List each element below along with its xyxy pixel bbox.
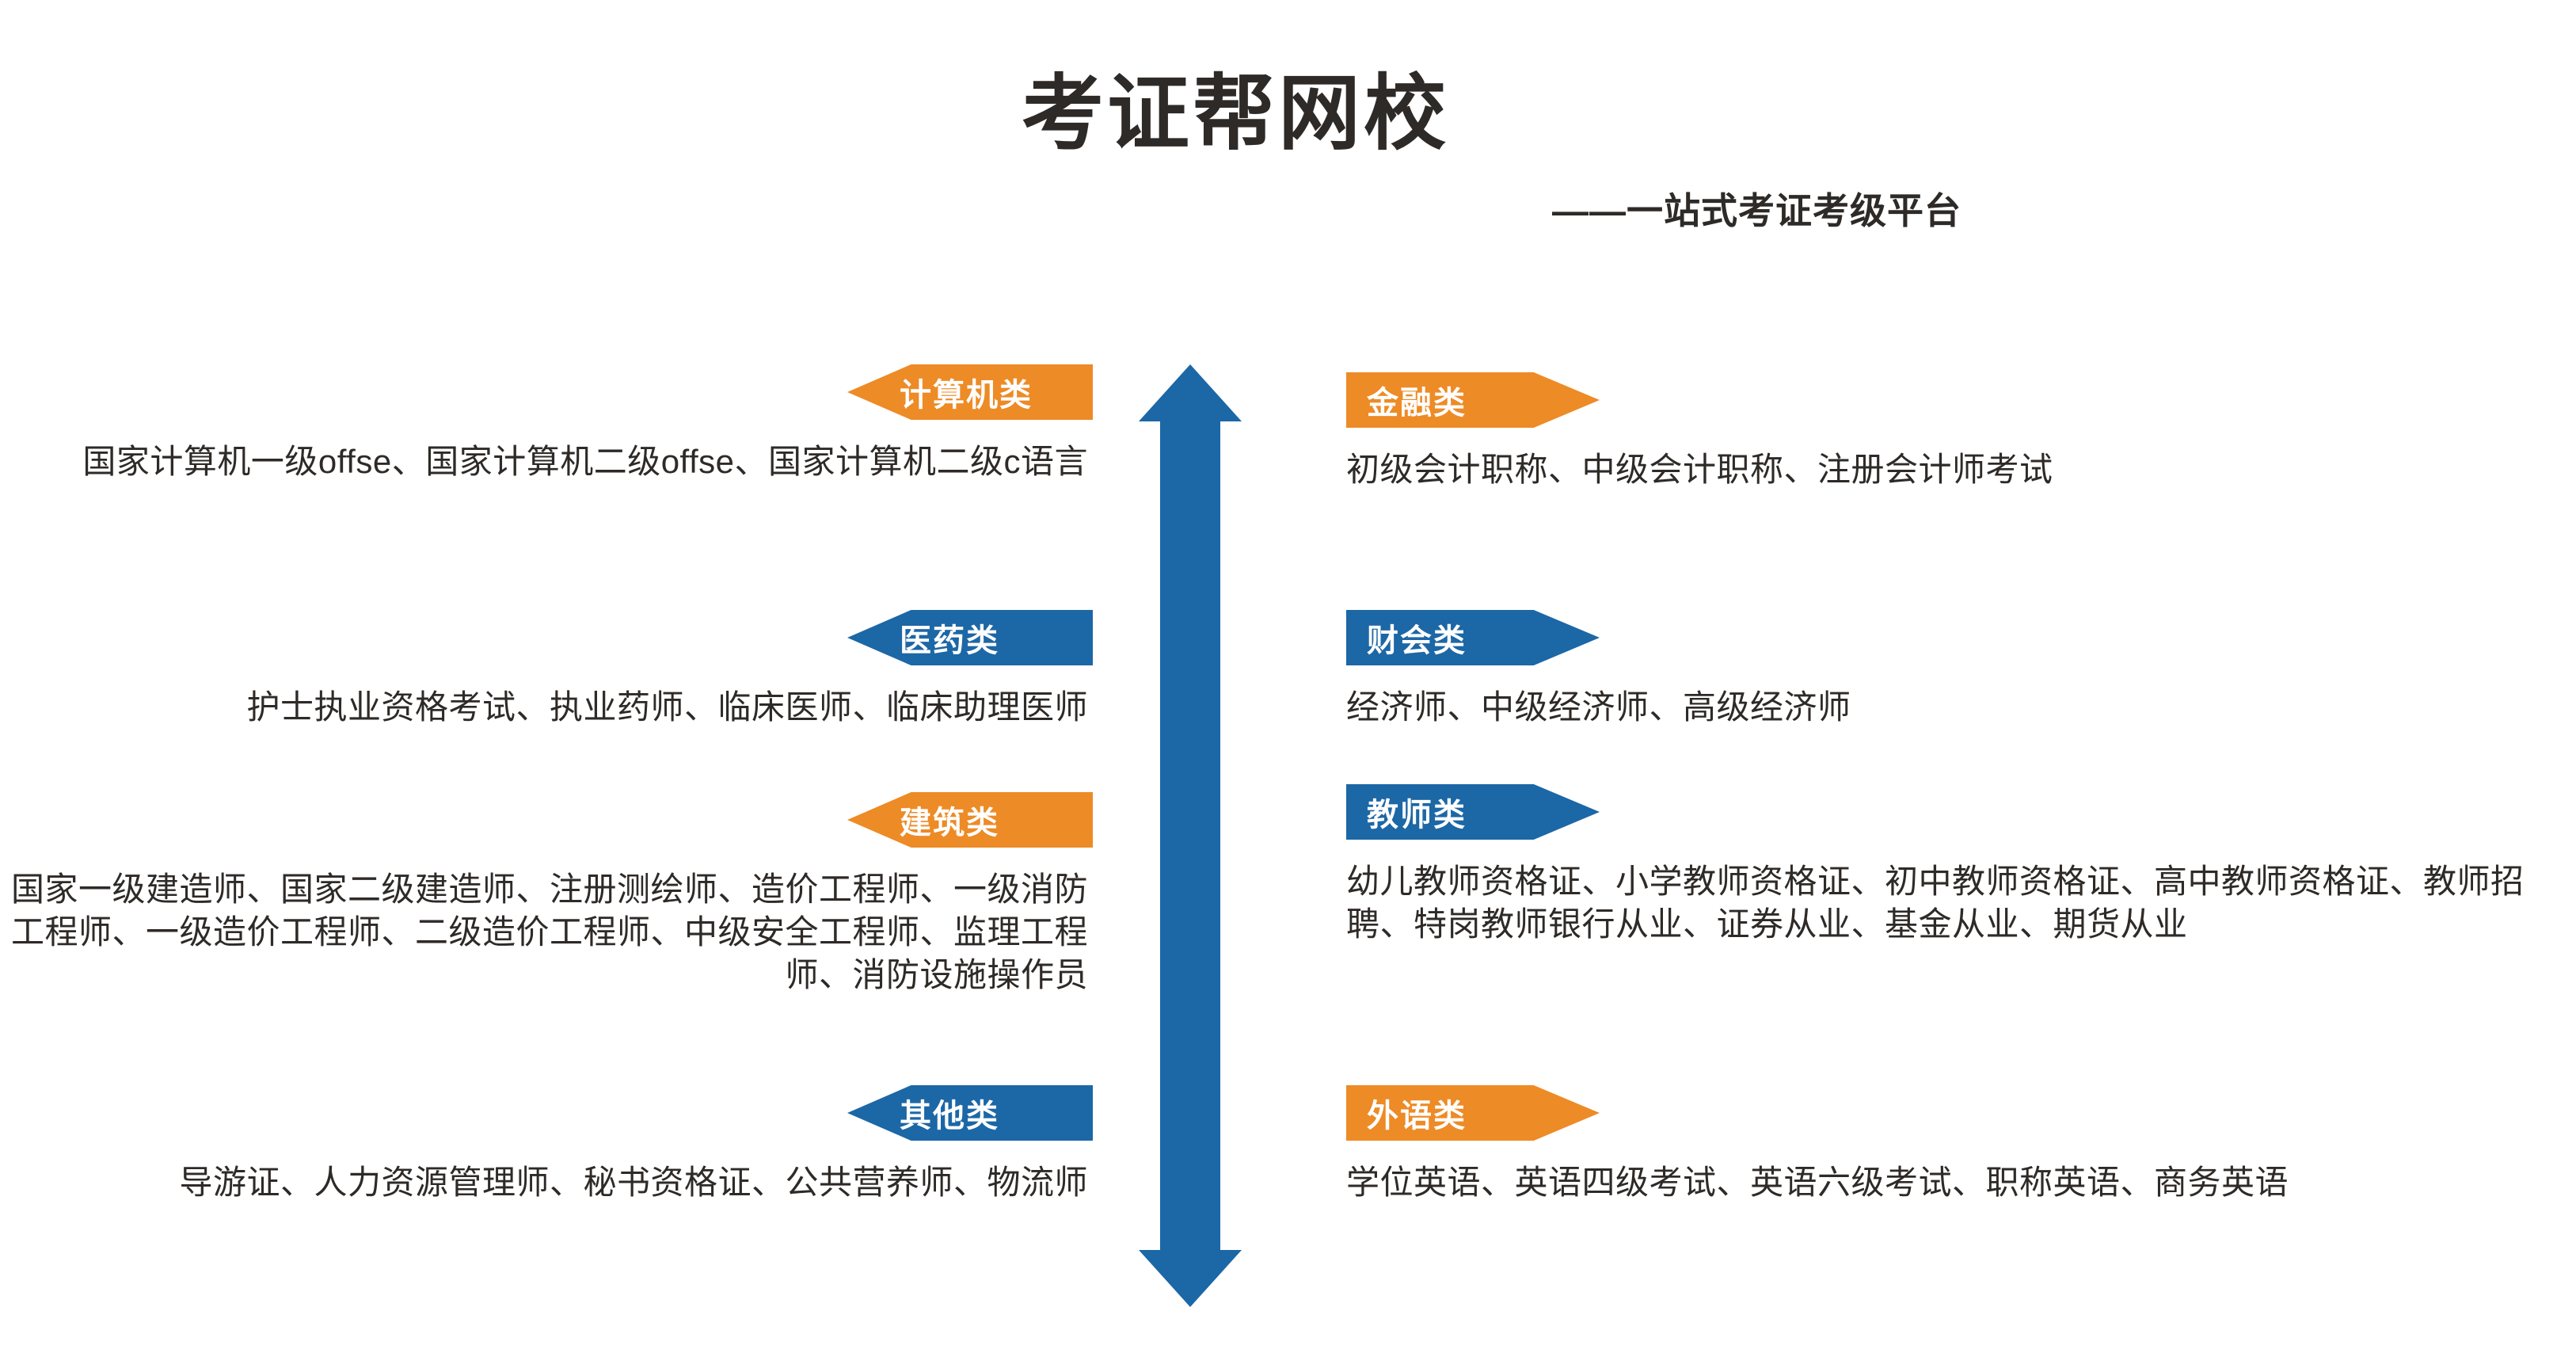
- category-description-accounting: 经济师、中级经济师、高级经济师: [1346, 686, 2576, 729]
- page-subtitle: ——一站式考证考级平台: [1552, 192, 1961, 229]
- category-tag-label: 教师类: [1367, 789, 1467, 835]
- spacer: [0, 420, 1093, 440]
- spacer: [0, 848, 1093, 868]
- category-tag-computer[interactable]: 计算机类: [847, 364, 1093, 420]
- spacer: [1346, 840, 2576, 860]
- category-description-finance: 初级会计职称、中级会计职称、注册会计师考试: [1346, 448, 2576, 491]
- category-description-foreign-language: 学位英语、英语四级考试、英语六级考试、职称英语、商务英语: [1346, 1161, 2576, 1204]
- category-description-teacher: 幼儿教师资格证、小学教师资格证、初中教师资格证、高中教师资格证、教师招聘、特岗教…: [1346, 860, 2576, 946]
- category-tag-label: 医药类: [900, 615, 999, 661]
- spacer: [1346, 428, 2576, 448]
- category-group-finance: 金融类 初级会计职称、中级会计职称、注册会计师考试: [1346, 372, 2576, 491]
- poster-header: 考证帮网校 ——一站式考证考级平台: [0, 0, 2576, 261]
- category-tag-label: 建筑类: [900, 797, 999, 843]
- category-group-other: 其他类 导游证、人力资源管理师、秘书资格证、公共营养师、物流师: [0, 1085, 1093, 1204]
- category-group-medicine: 医药类 护士执业资格考试、执业药师、临床医师、临床助理医师: [0, 610, 1093, 729]
- spacer: [1346, 1141, 2576, 1161]
- category-description-medicine: 护士执业资格考试、执业药师、临床医师、临床助理医师: [0, 686, 1093, 729]
- spacer: [0, 665, 1093, 686]
- category-tag-construction[interactable]: 建筑类: [847, 792, 1093, 848]
- category-description-computer: 国家计算机一级offse、国家计算机二级offse、国家计算机二级c语言: [0, 440, 1093, 483]
- category-tag-other[interactable]: 其他类: [847, 1085, 1093, 1141]
- category-description-construction: 国家一级建造师、国家二级建造师、注册测绘师、造价工程师、一级消防工程师、一级造价…: [0, 868, 1093, 996]
- spacer: [0, 1141, 1093, 1161]
- double-arrow-icon: [1139, 364, 1242, 1307]
- category-description-other: 导游证、人力资源管理师、秘书资格证、公共营养师、物流师: [0, 1161, 1093, 1204]
- category-tag-foreign-language[interactable]: 外语类: [1346, 1085, 1600, 1141]
- center-divider-arrow: [1139, 364, 1242, 1307]
- category-tag-label: 财会类: [1367, 615, 1467, 661]
- category-tag-teacher[interactable]: 教师类: [1346, 784, 1600, 840]
- category-group-computer: 计算机类 国家计算机一级offse、国家计算机二级offse、国家计算机二级c语…: [0, 364, 1093, 483]
- category-tag-accounting[interactable]: 财会类: [1346, 610, 1600, 665]
- category-group-accounting: 财会类 经济师、中级经济师、高级经济师: [1346, 610, 2576, 729]
- category-group-teacher: 教师类 幼儿教师资格证、小学教师资格证、初中教师资格证、高中教师资格证、教师招聘…: [1346, 784, 2576, 946]
- category-group-construction: 建筑类 国家一级建造师、国家二级建造师、注册测绘师、造价工程师、一级消防工程师、…: [0, 792, 1093, 996]
- category-tag-label: 金融类: [1367, 377, 1467, 423]
- poster-canvas: 考证帮网校 ——一站式考证考级平台 计算机类 国家计算机一级offse、国家计算…: [0, 0, 2576, 1349]
- category-tag-medicine[interactable]: 医药类: [847, 610, 1093, 665]
- category-group-foreign-language: 外语类 学位英语、英语四级考试、英语六级考试、职称英语、商务英语: [1346, 1085, 2576, 1204]
- category-tag-label: 其他类: [900, 1090, 999, 1136]
- category-tag-label: 外语类: [1367, 1090, 1467, 1136]
- page-title: 考证帮网校: [1022, 73, 1449, 155]
- spacer: [1346, 665, 2576, 686]
- category-tag-label: 计算机类: [900, 369, 1033, 415]
- category-tag-finance[interactable]: 金融类: [1346, 372, 1600, 428]
